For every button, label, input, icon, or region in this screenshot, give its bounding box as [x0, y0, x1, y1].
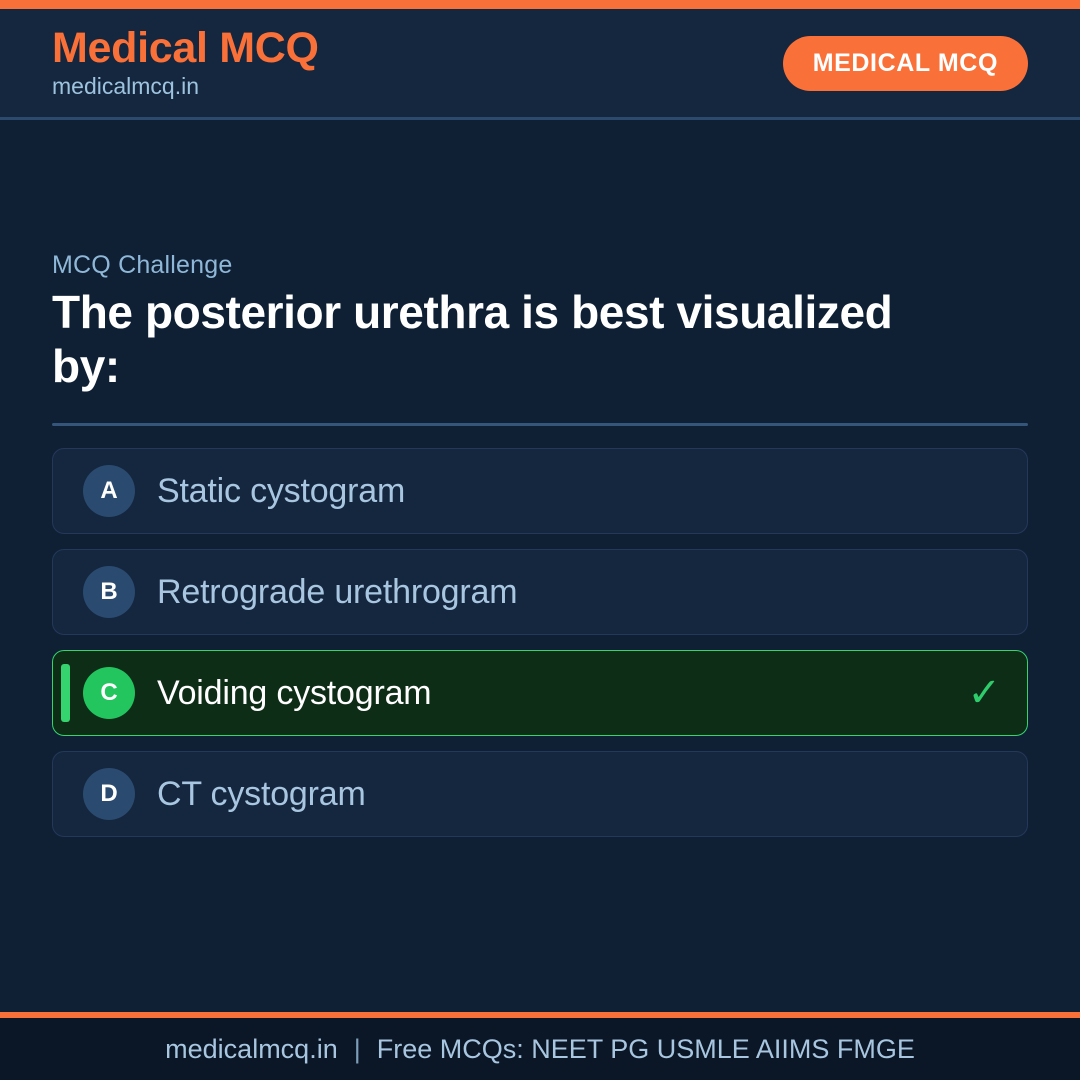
question-divider: [52, 423, 1028, 426]
option-letter-badge: A: [83, 465, 135, 517]
option-label: Voiding cystogram: [157, 676, 431, 710]
brand-title: Medical MCQ: [52, 26, 319, 71]
footer-site: medicalmcq.in: [165, 1034, 338, 1065]
mcq-card: Medical MCQ medicalmcq.in MEDICAL MCQ MC…: [0, 0, 1080, 1080]
option-a[interactable]: A Static cystogram: [52, 448, 1028, 534]
page-header: Medical MCQ medicalmcq.in MEDICAL MCQ: [0, 9, 1080, 120]
page-footer: medicalmcq.in | Free MCQs: NEET PG USMLE…: [0, 1018, 1080, 1080]
options-list: A Static cystogram B Retrograde urethrog…: [52, 448, 1028, 837]
option-label: CT cystogram: [157, 777, 366, 811]
brand-subtitle: medicalmcq.in: [52, 73, 319, 101]
footer-exams: Free MCQs: NEET PG USMLE AIIMS FMGE: [377, 1034, 915, 1065]
footer-separator: |: [354, 1034, 361, 1065]
correct-accent-bar: [61, 664, 70, 722]
top-accent-bar: [0, 0, 1080, 9]
option-letter-badge: B: [83, 566, 135, 618]
question-text: The posterior urethra is best visualized…: [52, 286, 952, 394]
header-badge: MEDICAL MCQ: [783, 36, 1028, 91]
option-b[interactable]: B Retrograde urethrogram: [52, 549, 1028, 635]
main-content: MCQ Challenge The posterior urethra is b…: [0, 120, 1080, 1012]
eyebrow-label: MCQ Challenge: [52, 251, 1028, 280]
brand: Medical MCQ medicalmcq.in: [52, 26, 319, 100]
option-label: Static cystogram: [157, 474, 405, 508]
option-letter-badge: C: [83, 667, 135, 719]
option-d[interactable]: D CT cystogram: [52, 751, 1028, 837]
option-letter-badge: D: [83, 768, 135, 820]
option-c[interactable]: C Voiding cystogram ✓: [52, 650, 1028, 736]
option-label: Retrograde urethrogram: [157, 575, 517, 609]
check-icon: ✓: [967, 673, 1001, 713]
